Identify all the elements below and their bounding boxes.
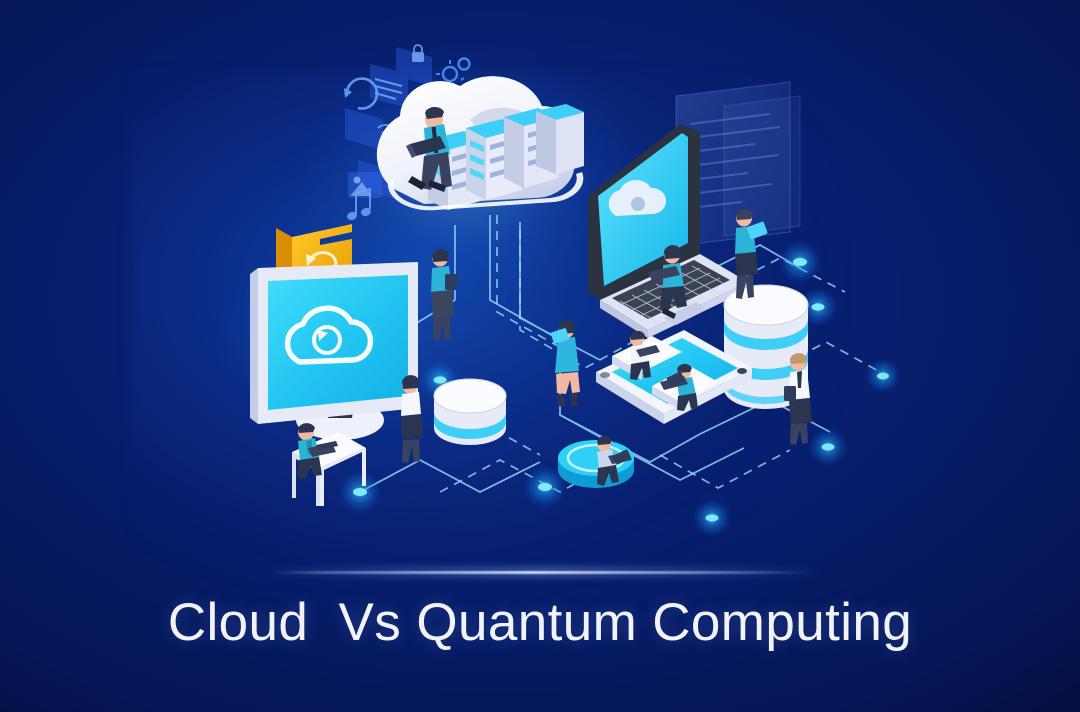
section-divider — [272, 571, 812, 574]
page-title: Cloud Vs Quantum Computing — [0, 592, 1080, 653]
illustration-canvas: Cloud Vs Quantum Computing — [0, 0, 1080, 712]
